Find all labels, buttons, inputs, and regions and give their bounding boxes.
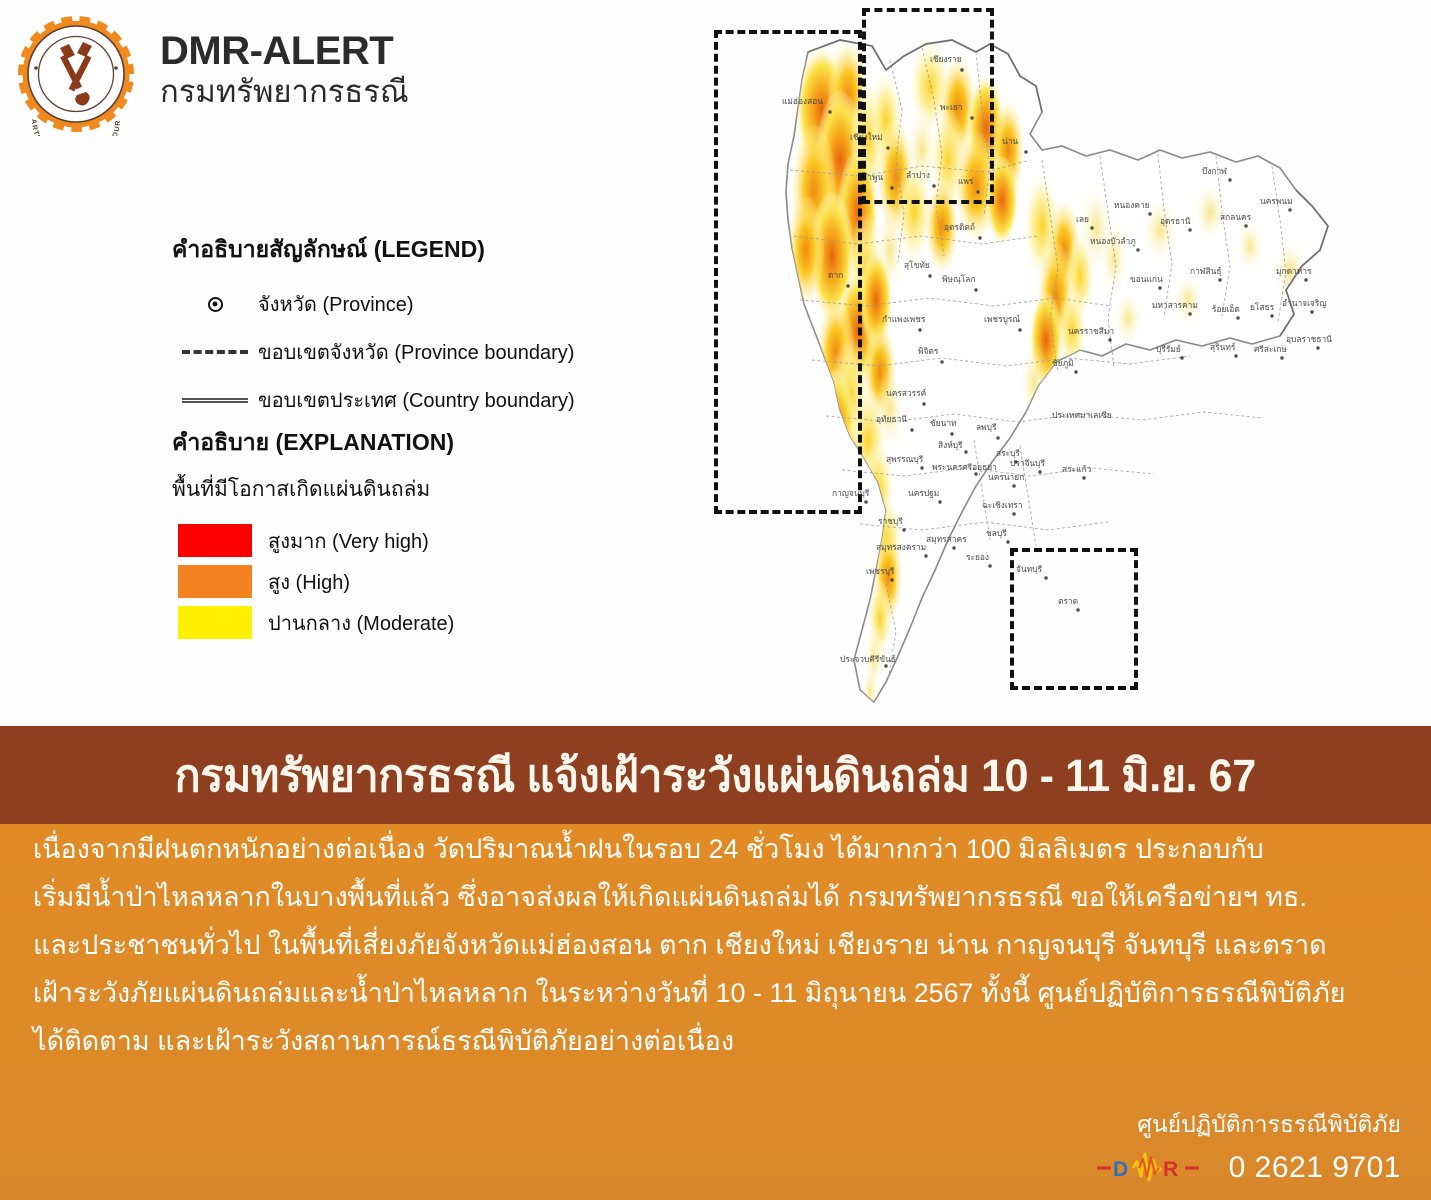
svg-text:อุบลราชธานี: อุบลราชธานี bbox=[1286, 334, 1332, 345]
svg-text:สิงห์บุรี: สิงห์บุรี bbox=[938, 440, 963, 451]
svg-text:เลย: เลย bbox=[1076, 214, 1089, 224]
body-line: ได้ติดตาม และเฝ้าระวังสถานการณ์ธรณีพิบัต… bbox=[33, 1028, 1408, 1055]
svg-text:ชัยนาท: ชัยนาท bbox=[930, 418, 957, 428]
risk-item-moderate: ปานกลาง (Moderate) bbox=[172, 606, 642, 639]
brand-title: DMR-ALERT bbox=[160, 30, 409, 72]
legend-item-label: ขอบเขตประเทศ (Country boundary) bbox=[258, 384, 575, 416]
svg-text:สกลนคร: สกลนคร bbox=[1220, 212, 1252, 222]
solid-line-icon bbox=[172, 398, 258, 403]
legend-item-label: ขอบเขตจังหวัด (Province boundary) bbox=[258, 336, 574, 368]
alert-body-panel: เนื่องจากมีฝนตกหนักอย่างต่อเนื่อง วัดปริ… bbox=[0, 824, 1431, 1200]
explanation-subheading: พื้นที่มีโอกาสเกิดแผ่นดินถล่ม bbox=[172, 473, 642, 506]
dmr-logo-icon: กรมทรัพยากรธรณี DEPARTMENT OF MINERAL RE… bbox=[14, 12, 138, 136]
svg-text:น่าน: น่าน bbox=[1002, 136, 1018, 146]
svg-text:ปราจีนบุรี: ปราจีนบุรี bbox=[1010, 458, 1045, 469]
northwest-focus-box bbox=[714, 30, 862, 514]
svg-text:เพชรบูรณ์: เพชรบูรณ์ bbox=[984, 314, 1020, 325]
svg-text:สุพรรณบุรี: สุพรรณบุรี bbox=[886, 454, 924, 465]
alert-title: กรมทรัพยากรธรณี แจ้งเฝ้าระวังแผ่นดินถล่ม… bbox=[175, 739, 1256, 811]
svg-text:มุกดาหาร: มุกดาหาร bbox=[1276, 266, 1312, 277]
alert-body-copy: เนื่องจากมีฝนตกหนักอย่างต่อเนื่อง วัดปริ… bbox=[33, 836, 1408, 1076]
svg-text:สุโขทัย: สุโขทัย bbox=[904, 260, 930, 271]
risk-swatch-very-high bbox=[178, 524, 252, 557]
svg-text:นครสวรรค์: นครสวรรค์ bbox=[886, 388, 926, 398]
svg-text:ร้อยเอ็ด: ร้อยเอ็ด bbox=[1212, 304, 1240, 314]
svg-text:อุตรดิตถ์: อุตรดิตถ์ bbox=[944, 222, 975, 233]
body-line: เริ่มมีน้ำป่าไหลหลากในบางพื้นที่แล้ว ซึ่… bbox=[33, 884, 1401, 911]
svg-text:สระแก้ว: สระแก้ว bbox=[1062, 464, 1092, 474]
svg-text:ชัยภูมิ: ชัยภูมิ bbox=[1052, 358, 1074, 369]
svg-text:ศรีสะเกษ: ศรีสะเกษ bbox=[1254, 344, 1287, 354]
svg-text:ฉะเชิงเทรา: ฉะเชิงเทรา bbox=[982, 500, 1022, 510]
explanation-heading: คำอธิบาย (EXPLANATION) bbox=[172, 425, 642, 461]
svg-text:ราชบุรี: ราชบุรี bbox=[878, 516, 903, 527]
svg-text:นครพนม: นครพนม bbox=[1260, 196, 1293, 206]
legend-item-province: จังหวัด (Province) bbox=[172, 288, 642, 320]
svg-text:อุทัยธานี: อุทัยธานี bbox=[876, 414, 907, 425]
svg-text:ประจวบคีรีขันธ์: ประจวบคีรีขันธ์ bbox=[840, 654, 896, 664]
svg-text:นครนายก: นครนายก bbox=[988, 472, 1024, 482]
body-line: เฝ้าระวังภัยแผ่นดินถล่มและน้ำป่าไหลหลาก … bbox=[33, 980, 1401, 1007]
svg-text:สมุทรสงคราม: สมุทรสงคราม bbox=[876, 542, 926, 553]
svg-text:สมุทรสาคร: สมุทรสาคร bbox=[926, 534, 967, 545]
footer-block: ศูนย์ปฏิบัติการธรณีพิบัติภัย D R 0 2621 … bbox=[1095, 1107, 1401, 1186]
dashed-line-icon bbox=[172, 350, 258, 354]
legend-item-label: จังหวัด (Province) bbox=[258, 288, 414, 320]
svg-text:ระยอง: ระยอง bbox=[966, 552, 989, 562]
svg-text:บุรีรัมย์: บุรีรัมย์ bbox=[1156, 344, 1181, 355]
svg-text:ลพบุรี: ลพบุรี bbox=[976, 422, 997, 433]
landslide-risk-map: แม่ฮ่องสอน เชียงใหม่ เชียงราย พะเยา น่าน… bbox=[690, 0, 1390, 726]
svg-text:มหาสารคาม: มหาสารคาม bbox=[1152, 300, 1198, 310]
footer-organization: ศูนย์ปฏิบัติการธรณีพิบัติภัย bbox=[1095, 1107, 1401, 1143]
southeast-focus-box bbox=[1010, 548, 1138, 690]
legend-item-province-boundary: ขอบเขตจังหวัด (Province boundary) bbox=[172, 336, 642, 368]
dmr-seismograph-icon: D R bbox=[1095, 1150, 1203, 1186]
svg-text:สุรินทร์: สุรินทร์ bbox=[1210, 342, 1236, 353]
top-panel: กรมทรัพยากรธรณี DEPARTMENT OF MINERAL RE… bbox=[0, 0, 1431, 726]
body-line: และประชาชนทั่วไป ในพื้นที่เสี่ยงภัยจังหว… bbox=[33, 932, 1401, 959]
legend-block: คำอธิบายสัญลักษณ์ (LEGEND) จังหวัด (Prov… bbox=[172, 232, 642, 432]
risk-item-high: สูง (High) bbox=[172, 565, 642, 598]
north-focus-box bbox=[862, 8, 994, 204]
footer-contact-row: D R 0 2621 9701 bbox=[1095, 1150, 1401, 1186]
brand-header: กรมทรัพยากรธรณี DEPARTMENT OF MINERAL RE… bbox=[14, 12, 409, 136]
risk-label: ปานกลาง (Moderate) bbox=[268, 607, 454, 639]
svg-text:ประเทศมาเลเซีย: ประเทศมาเลเซีย bbox=[1052, 410, 1112, 420]
svg-text:D: D bbox=[1113, 1158, 1128, 1181]
svg-text:หนองคาย: หนองคาย bbox=[1114, 200, 1150, 210]
brand-subtitle: กรมทรัพยากรธรณี bbox=[160, 74, 409, 110]
footer-phone: 0 2621 9701 bbox=[1229, 1151, 1401, 1185]
risk-label: สูงมาก (Very high) bbox=[268, 525, 429, 557]
svg-text:พิษณุโลก: พิษณุโลก bbox=[942, 274, 976, 285]
svg-text:R: R bbox=[1163, 1158, 1178, 1181]
svg-text:ชลบุรี: ชลบุรี bbox=[986, 528, 1007, 539]
risk-label: สูง (High) bbox=[268, 566, 350, 598]
svg-text:อุดรธานี: อุดรธานี bbox=[1160, 216, 1191, 227]
alert-title-banner: กรมทรัพยากรธรณี แจ้งเฝ้าระวังแผ่นดินถล่ม… bbox=[0, 726, 1431, 824]
risk-swatch-high bbox=[178, 565, 252, 598]
svg-text:ยโสธร: ยโสธร bbox=[1250, 302, 1275, 312]
risk-swatch-moderate bbox=[178, 606, 252, 639]
svg-text:นครปฐม: นครปฐม bbox=[908, 488, 939, 498]
svg-text:อำนาจเจริญ: อำนาจเจริญ bbox=[1282, 298, 1326, 308]
svg-text:ขอนแก่น: ขอนแก่น bbox=[1130, 274, 1163, 284]
svg-text:นครราชสีมา: นครราชสีมา bbox=[1068, 326, 1114, 336]
explanation-block: คำอธิบาย (EXPLANATION) พื้นที่มีโอกาสเกิ… bbox=[172, 425, 642, 647]
risk-item-very-high: สูงมาก (Very high) bbox=[172, 524, 642, 557]
svg-text:กาฬสินธุ์: กาฬสินธุ์ bbox=[1190, 266, 1221, 277]
svg-text:กำแพงเพชร: กำแพงเพชร bbox=[882, 314, 926, 324]
legend-heading: คำอธิบายสัญลักษณ์ (LEGEND) bbox=[172, 232, 642, 268]
legend-item-country-boundary: ขอบเขตประเทศ (Country boundary) bbox=[172, 384, 642, 416]
svg-text:บึงกาฬ: บึงกาฬ bbox=[1202, 166, 1227, 176]
svg-text:พิจิตร: พิจิตร bbox=[918, 346, 939, 356]
svg-text:เพชรบุรี: เพชรบุรี bbox=[866, 566, 895, 577]
body-line: เนื่องจากมีฝนตกหนักอย่างต่อเนื่อง วัดปริ… bbox=[33, 836, 1401, 863]
brand-text-block: DMR-ALERT กรมทรัพยากรธรณี bbox=[160, 12, 409, 110]
svg-text:หนองบัวลำภู: หนองบัวลำภู bbox=[1090, 236, 1136, 247]
province-dot-icon bbox=[172, 297, 258, 312]
